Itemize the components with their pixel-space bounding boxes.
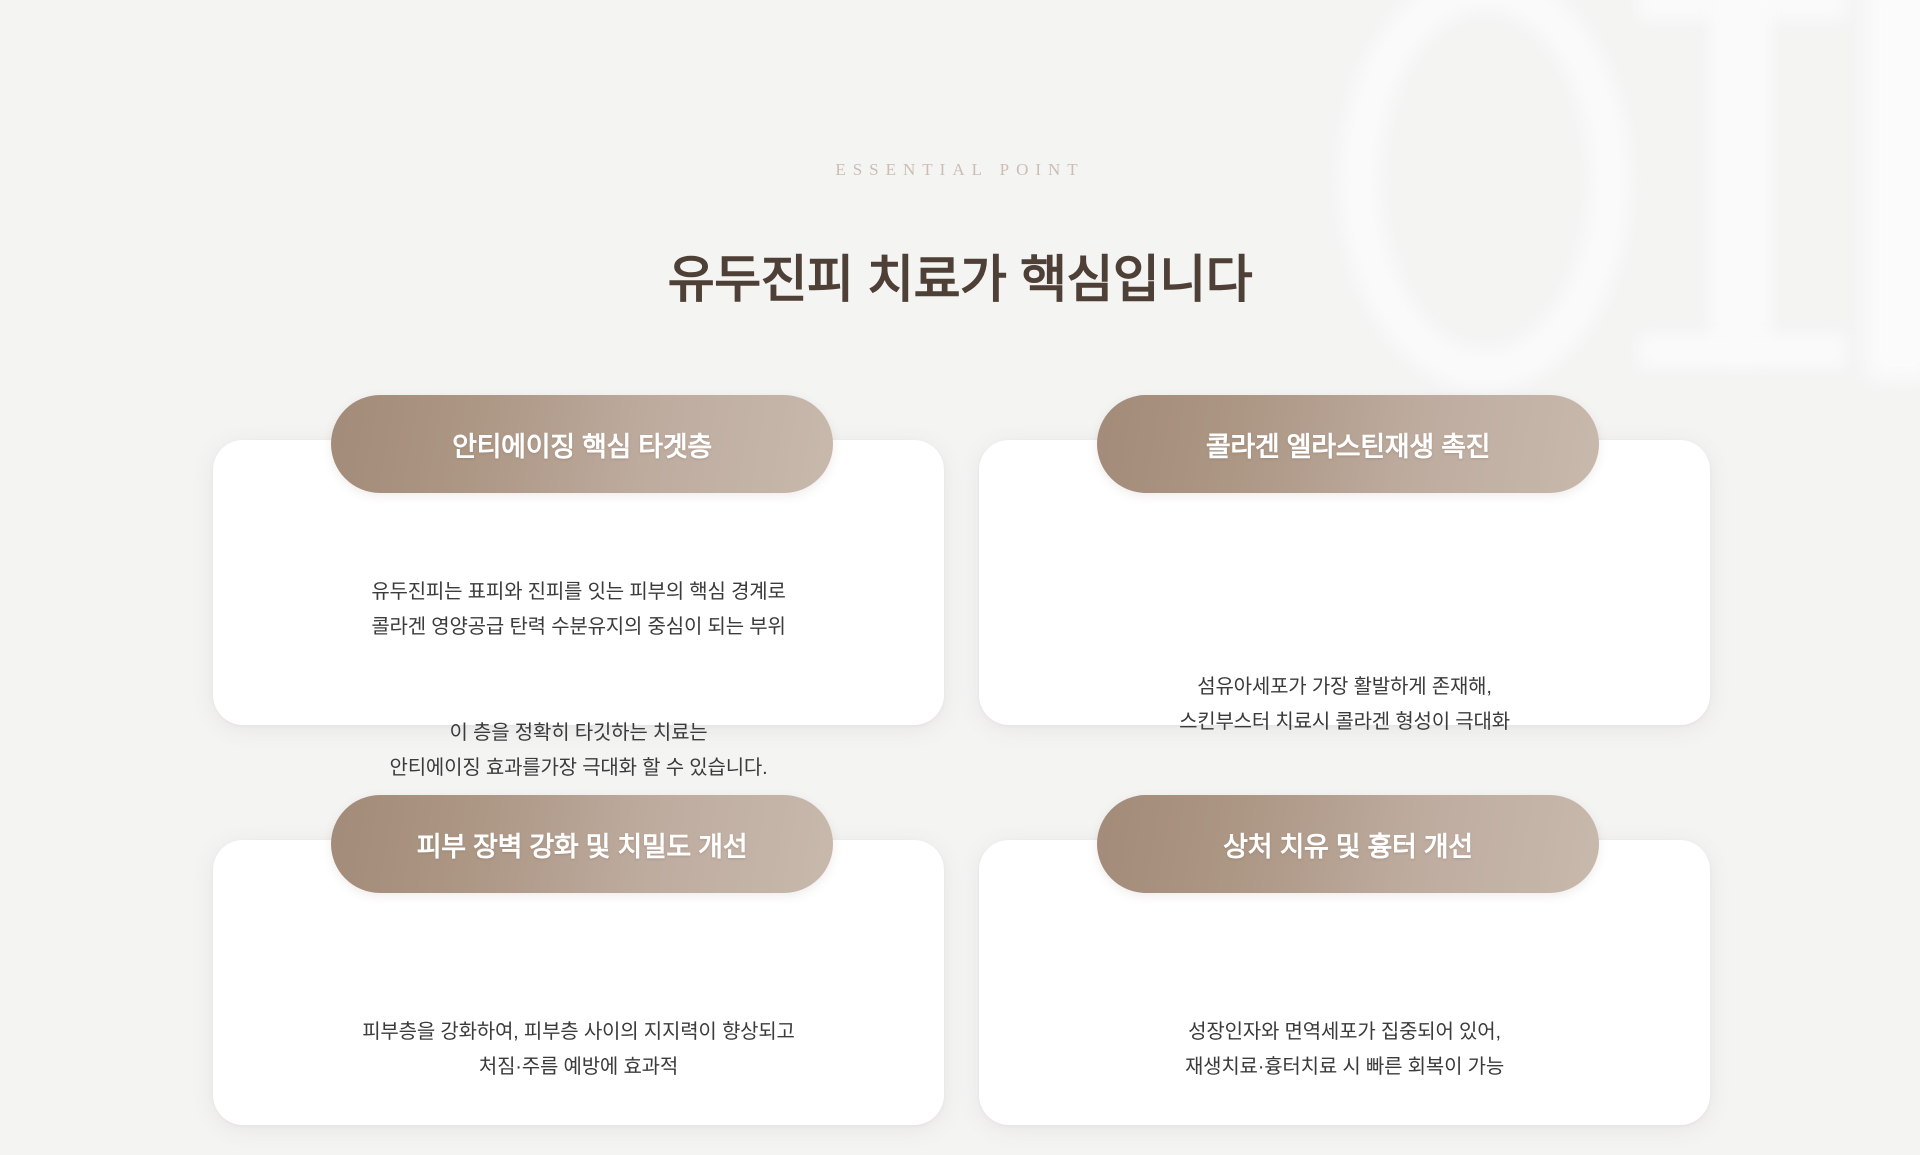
benefit-card-grid: 안티에이징 핵심 타겟층 유두진피는 표피와 진피를 잇는 피부의 핵심 경계로… xyxy=(213,395,1710,1125)
card-title-pill: 안티에이징 핵심 타겟층 xyxy=(331,395,833,493)
benefit-card-anti-aging-target[interactable]: 안티에이징 핵심 타겟층 유두진피는 표피와 진피를 잇는 피부의 핵심 경계로… xyxy=(213,395,944,725)
card-title-pill: 콜라겐 엘라스틴재생 촉진 xyxy=(1097,395,1599,493)
card-description: 피부층을 강화하여, 피부층 사이의 지지력이 향상되고 처짐·주름 예방에 효… xyxy=(213,980,944,1120)
card-paragraph: 이 층을 정확히 타깃하는 치료는 안티에이징 효과를가장 극대화 할 수 있습… xyxy=(213,716,944,786)
card-description: 성장인자와 면역세포가 집중되어 있어, 재생치료·흉터치료 시 빠른 회복이 … xyxy=(979,980,1710,1120)
watermark-letter-i-top-serif xyxy=(1638,0,1846,20)
card-title-label: 안티에이징 핵심 타겟층 xyxy=(452,425,712,464)
card-title-label: 상처 치유 및 흉터 개선 xyxy=(1223,825,1473,864)
watermark-letter-o xyxy=(1340,0,1630,390)
card-paragraph: 유두진피는 표피와 진피를 잇는 피부의 핵심 경계로 콜라겐 영양공급 탄력 … xyxy=(213,575,944,645)
benefit-card-collagen-elastin[interactable]: 콜라겐 엘라스틴재생 촉진 섬유아세포가 가장 활발하게 존재해, 스킨부스터 … xyxy=(979,395,1710,725)
benefit-card-wound-scar[interactable]: 상처 치유 및 흉터 개선 성장인자와 면역세포가 집중되어 있어, 재생치료·… xyxy=(979,795,1710,1125)
eyebrow-label: ESSENTIAL POINT xyxy=(0,160,1920,180)
benefit-card-skin-barrier[interactable]: 피부 장벽 강화 및 치밀도 개선 피부층을 강화하여, 피부층 사이의 지지력… xyxy=(213,795,944,1125)
card-paragraph: 피부층을 강화하여, 피부층 사이의 지지력이 향상되고 처짐·주름 예방에 효… xyxy=(213,1015,944,1085)
card-description: 섬유아세포가 가장 활발하게 존재해, 스킨부스터 치료시 콜라겐 형성이 극대… xyxy=(979,635,1710,775)
card-paragraph: 섬유아세포가 가장 활발하게 존재해, 스킨부스터 치료시 콜라겐 형성이 극대… xyxy=(979,670,1710,740)
card-title-label: 콜라겐 엘라스틴재생 촉진 xyxy=(1206,425,1490,464)
watermark-letter-i-bottom-serif xyxy=(1638,334,1846,368)
background-watermark-graphic xyxy=(1320,0,1920,460)
watermark-letter-bar xyxy=(1866,0,1920,380)
card-title-label: 피부 장벽 강화 및 치밀도 개선 xyxy=(417,825,748,864)
card-row-top: 안티에이징 핵심 타겟층 유두진피는 표피와 진피를 잇는 피부의 핵심 경계로… xyxy=(213,395,1710,725)
card-title-pill: 상처 치유 및 흉터 개선 xyxy=(1097,795,1599,893)
card-row-bottom: 피부 장벽 강화 및 치밀도 개선 피부층을 강화하여, 피부층 사이의 지지력… xyxy=(213,795,1710,1125)
card-description: 유두진피는 표피와 진피를 잇는 피부의 핵심 경계로 콜라겐 영양공급 탄력 … xyxy=(213,540,944,821)
page-title: 유두진피 치료가 핵심입니다 xyxy=(0,238,1920,312)
card-paragraph: 성장인자와 면역세포가 집중되어 있어, 재생치료·흉터치료 시 빠른 회복이 … xyxy=(979,1015,1710,1085)
